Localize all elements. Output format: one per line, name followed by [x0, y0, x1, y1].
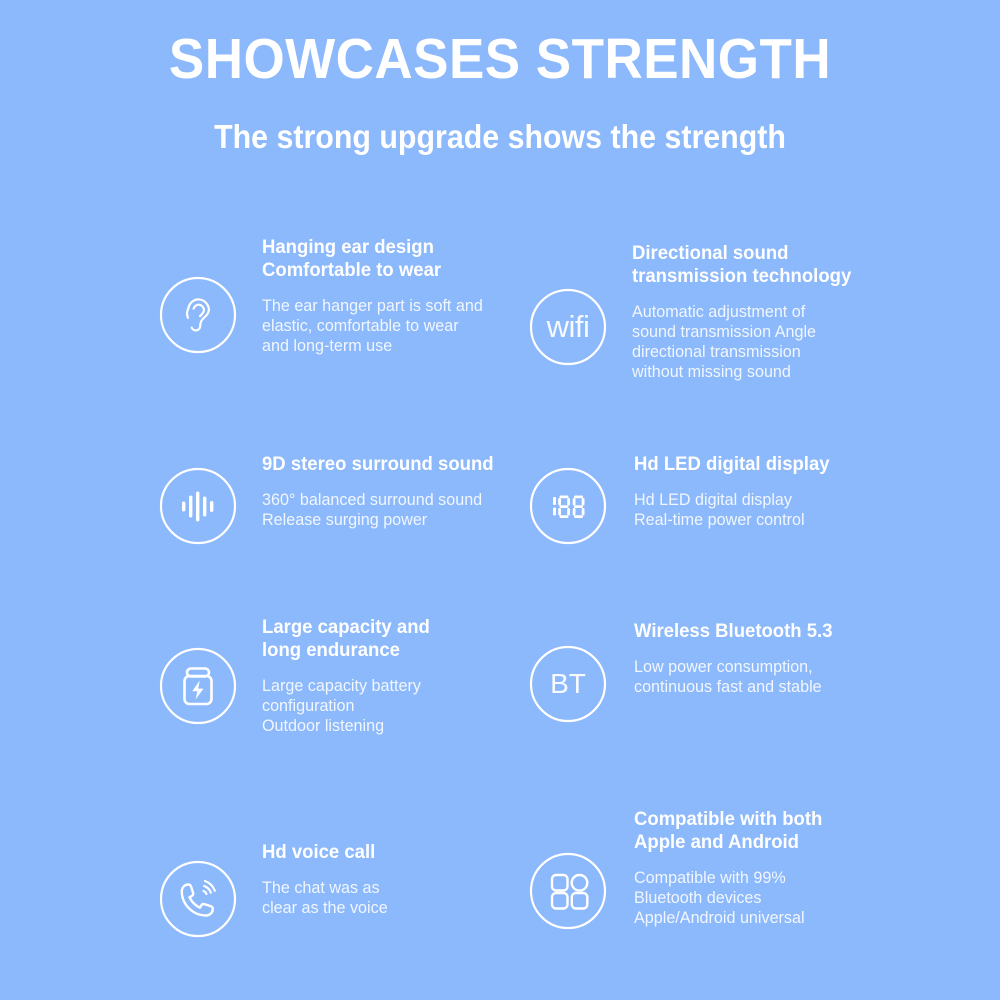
ear-icon [158, 275, 238, 355]
feature-text: Hanging ear design Comfortable to wear T… [238, 236, 528, 356]
feature-text: Hd LED digital display Hd LED digital di… [608, 444, 908, 530]
feature-text: Wireless Bluetooth 5.3 Low power consump… [608, 620, 908, 697]
page-subtitle: The strong upgrade shows the strength [40, 91, 960, 157]
feature-title: 9D stereo surround sound [262, 453, 515, 476]
feature-text: Directional sound transmission technolog… [608, 242, 908, 382]
feature-text: Hd voice call The chat was as clear as t… [238, 841, 528, 918]
feature-title: Compatible with both Apple and Android [634, 808, 894, 854]
feature-item: BT Wireless Bluetooth 5.3 Low power cons… [528, 620, 908, 724]
apps-grid-icon [528, 851, 608, 931]
feature-body: 360° balanced surround sound Release sur… [262, 476, 515, 530]
feature-title: Wireless Bluetooth 5.3 [634, 620, 894, 643]
feature-item: wifi Directional sound transmission tech… [528, 242, 908, 382]
infographic-page: SHOWCASES STRENGTH The strong upgrade sh… [0, 0, 1000, 1000]
feature-title: Large capacity and long endurance [262, 616, 515, 662]
feature-title: Hanging ear design Comfortable to wear [262, 236, 515, 282]
feature-grid: Hanging ear design Comfortable to wear T… [0, 216, 1000, 1000]
feature-text: 9D stereo surround sound 360° balanced s… [238, 444, 528, 530]
battery-charge-icon [158, 646, 238, 726]
feature-body: The ear hanger part is soft and elastic,… [262, 282, 515, 356]
feature-item: Large capacity and long endurance Large … [158, 616, 528, 736]
feature-body: The chat was as clear as the voice [262, 864, 515, 918]
feature-item: Hd voice call The chat was as clear as t… [158, 841, 528, 939]
feature-title: Hd voice call [262, 841, 515, 864]
feature-item: Hanging ear design Comfortable to wear T… [158, 236, 528, 356]
page-header: SHOWCASES STRENGTH The strong upgrade sh… [0, 0, 1000, 157]
feature-body: Low power consumption, continuous fast a… [634, 643, 894, 697]
wifi-icon: wifi [528, 287, 608, 367]
feature-title: Hd LED digital display [634, 453, 894, 476]
feature-body: Automatic adjustment of sound transmissi… [632, 288, 894, 382]
feature-title: Directional sound transmission technolog… [632, 242, 894, 288]
bluetooth-icon: BT [528, 644, 608, 724]
phone-call-icon [158, 859, 238, 939]
feature-item: Compatible with both Apple and Android C… [528, 808, 908, 931]
feature-text: Large capacity and long endurance Large … [238, 616, 528, 736]
feature-item: 9D stereo surround sound 360° balanced s… [158, 444, 528, 546]
feature-text: Compatible with both Apple and Android C… [608, 808, 908, 928]
led-digits-icon [528, 466, 608, 546]
sound-wave-icon [158, 466, 238, 546]
feature-body: Hd LED digital display Real-time power c… [634, 476, 894, 530]
feature-item: Hd LED digital display Hd LED digital di… [528, 444, 908, 546]
feature-body: Large capacity battery configuration Out… [262, 662, 515, 736]
page-title: SHOWCASES STRENGTH [35, 0, 965, 91]
feature-body: Compatible with 99% Bluetooth devices Ap… [634, 854, 894, 928]
